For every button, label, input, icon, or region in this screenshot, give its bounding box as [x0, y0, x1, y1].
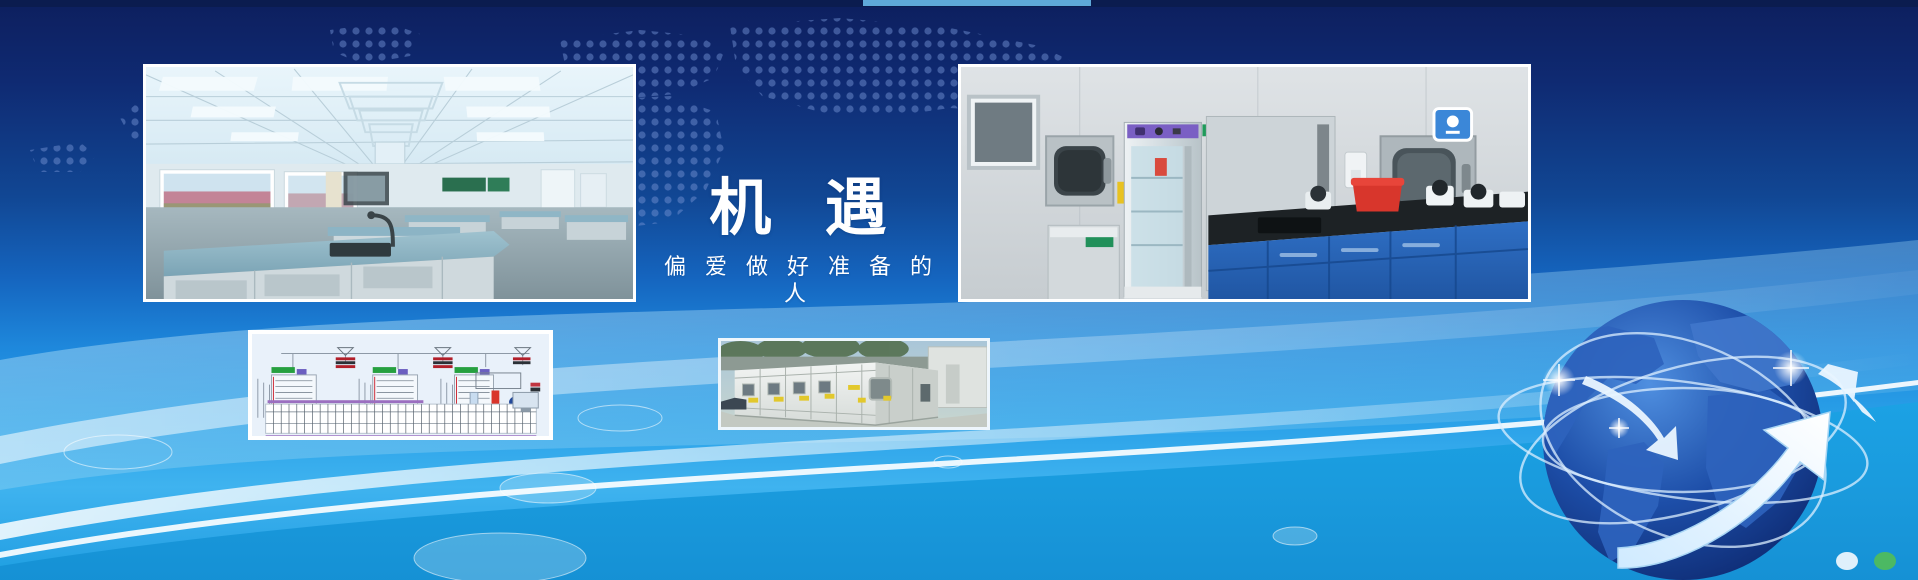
- headline-block: 机 遇 偏 爱 做 好 准 备 的 人: [648, 176, 948, 308]
- photo-lab-equipment[interactable]: [958, 64, 1531, 302]
- top-strip-highlight: [863, 0, 1091, 6]
- photo-schematic-diagram[interactable]: [248, 330, 553, 440]
- hero-banner: 机 遇 偏 爱 做 好 准 备 的 人: [0, 0, 1918, 580]
- carousel-indicators: [1836, 552, 1896, 570]
- page-title: 机 遇: [648, 176, 948, 239]
- photo-container-lab[interactable]: [718, 338, 990, 430]
- photo-lab-interior[interactable]: [143, 64, 636, 302]
- page-subtitle: 偏 爱 做 好 准 备 的 人: [648, 255, 948, 308]
- globe-icon: [1458, 280, 1918, 580]
- carousel-dot-1[interactable]: [1836, 552, 1858, 570]
- carousel-dot-2[interactable]: [1874, 552, 1896, 570]
